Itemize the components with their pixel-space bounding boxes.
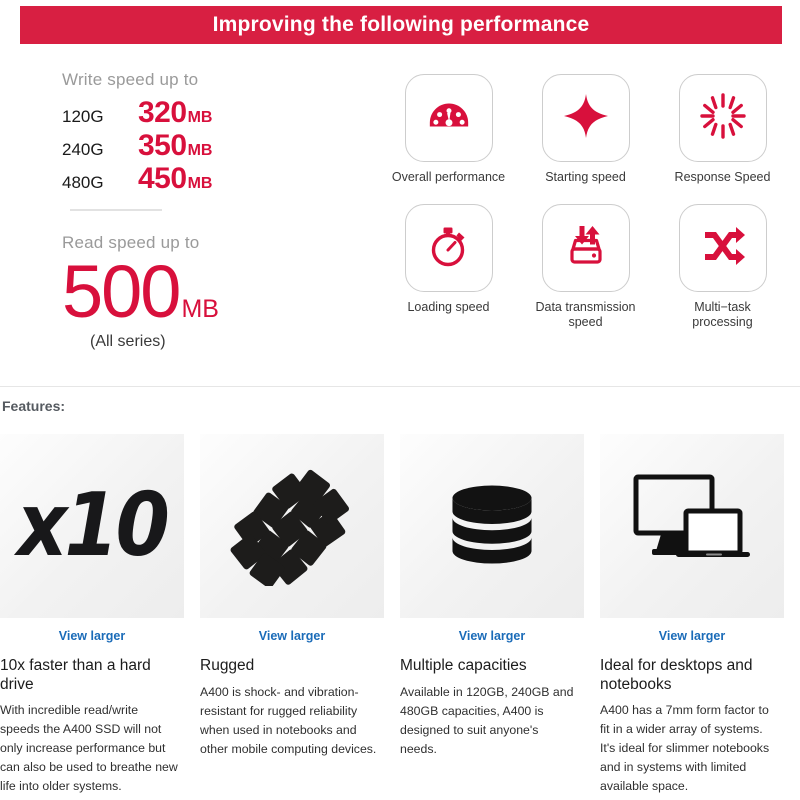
stopwatch-icon [425, 221, 473, 274]
section-divider [0, 386, 800, 387]
feature-thumbnail[interactable] [200, 434, 384, 618]
speedometer-icon [426, 93, 472, 144]
write-speed-value: 350 [138, 131, 187, 161]
feature-thumbnail[interactable]: x10 [0, 434, 184, 618]
benefit-icon-box [679, 74, 767, 162]
feature-card: x10 View larger 10x faster than a hard d… [0, 434, 200, 796]
page-title: Improving the following performance [213, 13, 590, 37]
four-point-star-icon [562, 92, 610, 145]
shuffle-arrows-icon [699, 221, 747, 274]
x10-graphic: x10 [17, 476, 167, 577]
benefits-icon-grid: Overall performance Starting speed [380, 74, 790, 331]
read-speed-block: Read speed up to 500 MB (All series) [62, 233, 362, 351]
read-speed-value-row: 500 MB [62, 257, 362, 327]
feature-card: View larger Rugged A400 is shock- and vi… [200, 434, 400, 796]
write-speed-rows: 120G 320 MB 240G 350 MB 480G 450 MB [62, 98, 362, 197]
read-speed-value: 500 [62, 257, 179, 327]
write-speed-row: 240G 350 MB [62, 131, 362, 164]
features-heading: Features: [2, 398, 65, 414]
benefit-cell-starting-speed: Starting speed [517, 74, 654, 186]
benefit-cell-overall-performance: Overall performance [380, 74, 517, 186]
write-speed-row: 120G 320 MB [62, 98, 362, 131]
benefit-cell-multitask: Multi−task processing [654, 204, 791, 331]
view-larger-link[interactable]: View larger [259, 629, 325, 643]
read-speed-unit: MB [181, 295, 219, 324]
write-speed-unit: MB [188, 175, 213, 193]
page-header-banner: Improving the following performance [20, 6, 782, 44]
feature-body: A400 has a 7mm form factor to fit in a w… [600, 701, 782, 796]
benefit-label: Starting speed [526, 170, 646, 186]
feature-body: Available in 120GB, 240GB and 480GB capa… [400, 683, 582, 759]
capacity-label: 480G [62, 173, 138, 193]
speed-spec-panel: Write speed up to 120G 320 MB 240G 350 M… [62, 70, 362, 351]
spec-divider [70, 209, 162, 211]
view-larger-link[interactable]: View larger [459, 629, 525, 643]
write-speed-value: 450 [138, 164, 187, 194]
benefit-label: Loading speed [389, 300, 509, 316]
write-speed-value: 320 [138, 98, 187, 128]
capacity-label: 240G [62, 140, 138, 160]
write-speed-unit: MB [188, 109, 213, 127]
features-row: x10 View larger 10x faster than a hard d… [0, 434, 800, 796]
feature-title: Ideal for desktops and notebooks [600, 657, 782, 694]
benefit-cell-response-speed: Response Speed [654, 74, 791, 186]
benefit-label: Overall performance [389, 170, 509, 186]
feature-body: A400 is shock- and vibration-resistant f… [200, 683, 382, 759]
write-speed-caption: Write speed up to [62, 70, 362, 90]
benefit-icon-box [405, 74, 493, 162]
benefit-icon-box [542, 74, 630, 162]
feature-title: Multiple capacities [400, 657, 582, 676]
view-larger-wrap: View larger [200, 627, 384, 645]
feature-thumbnail[interactable] [400, 434, 584, 618]
benefit-cell-loading-speed: Loading speed [380, 204, 517, 331]
database-stack-graphic [440, 472, 544, 581]
view-larger-link[interactable]: View larger [659, 629, 725, 643]
feature-body: With incredible read/write speeds the A4… [0, 701, 182, 796]
benefit-label: Data transmission speed [526, 300, 646, 331]
desktop-laptop-graphic [628, 469, 756, 584]
benefit-label: Response Speed [663, 170, 783, 186]
read-speed-note: (All series) [90, 333, 362, 351]
feature-card: View larger Multiple capacities Availabl… [400, 434, 600, 796]
view-larger-wrap: View larger [400, 627, 584, 645]
write-speed-unit: MB [188, 142, 213, 160]
write-speed-row: 480G 450 MB [62, 164, 362, 197]
capacity-label: 120G [62, 107, 138, 127]
view-larger-wrap: View larger [600, 627, 784, 645]
feature-title: Rugged [200, 657, 382, 676]
benefit-icon-box [679, 204, 767, 292]
benefit-cell-data-transmission: Data transmission speed [517, 204, 654, 331]
feature-title: 10x faster than a hard drive [0, 657, 182, 694]
data-transfer-icon [562, 221, 610, 274]
benefit-icon-box [405, 204, 493, 292]
benefit-label: Multi−task processing [663, 300, 783, 331]
benefit-icon-box [542, 204, 630, 292]
diamond-grid-graphic [230, 462, 354, 591]
loading-spinner-icon [699, 92, 747, 145]
view-larger-wrap: View larger [0, 627, 184, 645]
view-larger-link[interactable]: View larger [59, 629, 125, 643]
feature-thumbnail[interactable] [600, 434, 784, 618]
feature-card: View larger Ideal for desktops and noteb… [600, 434, 800, 796]
